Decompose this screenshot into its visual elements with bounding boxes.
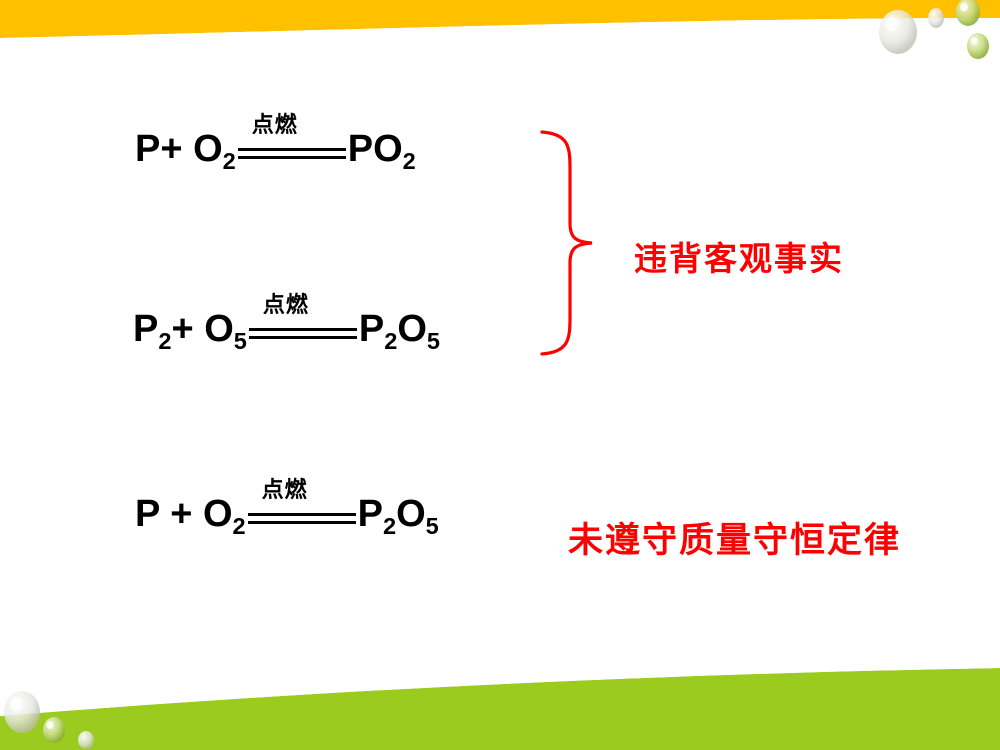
eq3-right-sub2: 5 (426, 513, 439, 539)
annotation-violates-fact: 违背客观事实 (634, 232, 844, 280)
eq3-right-p: P (358, 493, 383, 535)
eq1-left: P+ O (135, 128, 223, 170)
eq2-left-sub1: 2 (158, 328, 171, 354)
eq2-right-o: O (397, 308, 427, 350)
eq2-condition-label: 点燃 (263, 295, 309, 317)
water-droplets-bottom-left (0, 660, 160, 750)
eq1-condition-label: 点燃 (252, 115, 298, 137)
equation-2: P2+ O5点燃P2O5 (133, 310, 440, 351)
eq1-reaction-arrow: 点燃 (238, 131, 346, 171)
eq2-right-sub2: 5 (427, 328, 440, 354)
eq3-left-sub: 2 (233, 513, 246, 539)
eq3-left: P + O (135, 493, 233, 535)
grouping-brace (536, 128, 606, 358)
eq3-condition-label: 点燃 (262, 480, 308, 502)
water-droplets-top-right (840, 0, 1000, 80)
eq2-left-p: P (133, 308, 158, 350)
eq2-right-sub1: 2 (384, 328, 397, 354)
slide: P+ O2点燃PO2 P2+ O5点燃P2O5 P + O2点燃P2O5 违背客… (0, 0, 1000, 750)
annotation-mass-conservation: 未遵守质量守恒定律 (568, 512, 901, 563)
eq1-left-sub: 2 (223, 148, 236, 174)
eq3-right-o: O (396, 493, 426, 535)
eq2-left-o: + O (171, 308, 233, 350)
equation-1: P+ O2点燃PO2 (135, 130, 416, 171)
eq2-right-p: P (359, 308, 384, 350)
eq1-right-sub: 2 (403, 148, 416, 174)
equation-3: P + O2点燃P2O5 (135, 495, 439, 536)
eq3-right-sub1: 2 (383, 513, 396, 539)
eq2-left-sub2: 5 (234, 328, 247, 354)
eq3-reaction-arrow: 点燃 (248, 496, 356, 536)
eq2-reaction-arrow: 点燃 (249, 311, 357, 351)
eq1-right: PO (348, 128, 403, 170)
